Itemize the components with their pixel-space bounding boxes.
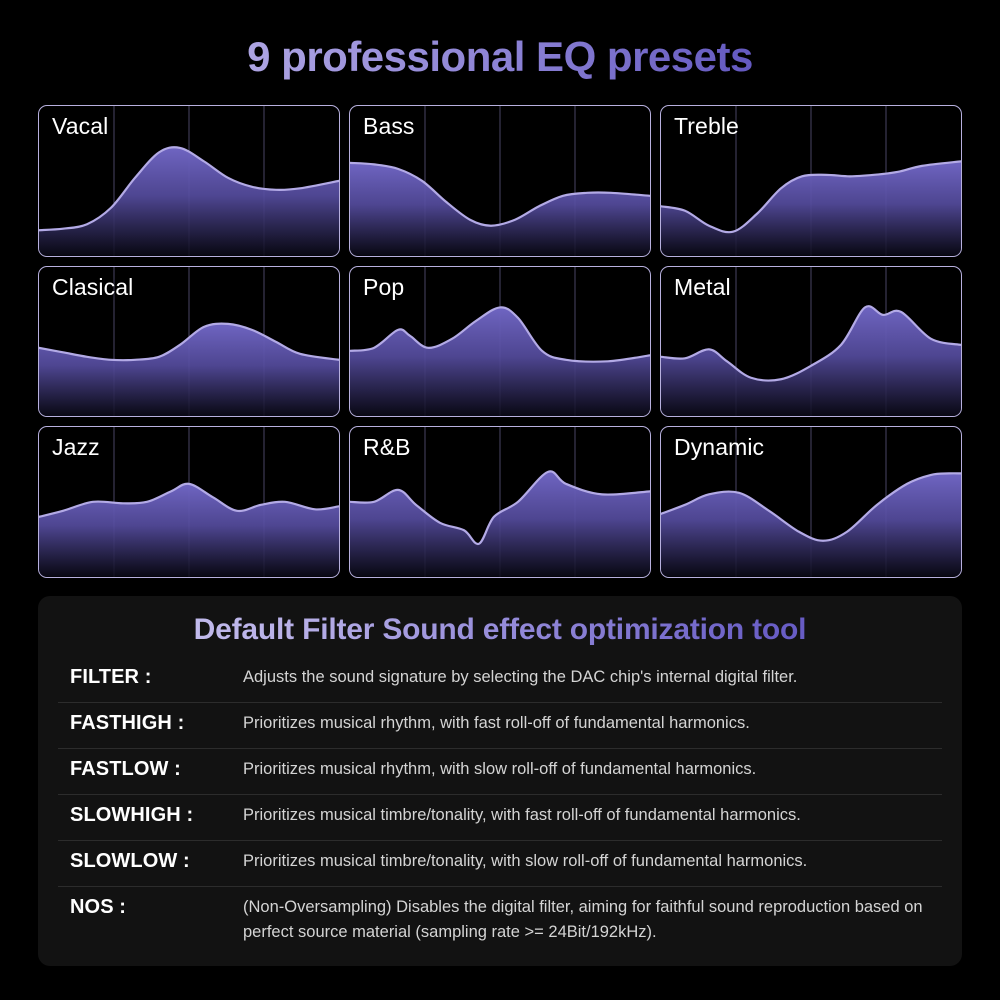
eq-preset-card[interactable]: Jazz xyxy=(38,426,340,578)
eq-presets-page: 9 professional EQ presets Vacal xyxy=(0,0,1000,1000)
filter-term: FILTER : xyxy=(58,663,243,692)
eq-preset-card[interactable]: Clasical xyxy=(38,266,340,418)
filter-row: NOS : (Non-Oversampling) Disables the di… xyxy=(58,887,942,952)
filter-description: Prioritizes musical rhythm, with slow ro… xyxy=(243,755,942,782)
eq-preset-label: Pop xyxy=(363,274,404,301)
filter-row: FASTHIGH : Prioritizes musical rhythm, w… xyxy=(58,703,942,749)
eq-preset-card[interactable]: Bass xyxy=(349,105,651,257)
filter-row: SLOWLOW : Prioritizes musical timbre/ton… xyxy=(58,841,942,887)
filter-term: FASTHIGH : xyxy=(58,709,243,738)
eq-preset-label: Jazz xyxy=(52,434,100,461)
eq-preset-card[interactable]: R&B xyxy=(349,426,651,578)
eq-preset-card[interactable]: Vacal xyxy=(38,105,340,257)
filter-panel-title: Default Filter Sound effect optimization… xyxy=(58,613,942,647)
filter-row: FILTER : Adjusts the sound signature by … xyxy=(58,657,942,703)
filter-description: Prioritizes musical timbre/tonality, wit… xyxy=(243,801,942,828)
eq-preset-grid: Vacal Bass xyxy=(38,105,962,578)
eq-preset-label: R&B xyxy=(363,434,411,461)
filter-description: Prioritizes musical rhythm, with fast ro… xyxy=(243,709,942,736)
filter-description: Adjusts the sound signature by selecting… xyxy=(243,663,942,690)
filter-term: SLOWHIGH : xyxy=(58,801,243,830)
eq-preset-label: Bass xyxy=(363,113,415,140)
eq-preset-card[interactable]: Pop xyxy=(349,266,651,418)
filter-row-list: FILTER : Adjusts the sound signature by … xyxy=(58,657,942,952)
filter-row: SLOWHIGH : Prioritizes musical timbre/to… xyxy=(58,795,942,841)
filter-description: Prioritizes musical timbre/tonality, wit… xyxy=(243,847,942,874)
eq-curve-fill xyxy=(39,484,339,577)
eq-preset-card[interactable]: Metal xyxy=(660,266,962,418)
eq-preset-card[interactable]: Dynamic xyxy=(660,426,962,578)
eq-curve-fill xyxy=(39,147,339,255)
filter-row: FASTLOW : Prioritizes musical rhythm, wi… xyxy=(58,749,942,795)
filter-term: SLOWLOW : xyxy=(58,847,243,876)
eq-preset-label: Clasical xyxy=(52,274,133,301)
eq-preset-card[interactable]: Treble xyxy=(660,105,962,257)
filter-info-panel: Default Filter Sound effect optimization… xyxy=(38,596,962,966)
filter-description: (Non-Oversampling) Disables the digital … xyxy=(243,893,942,945)
filter-term: NOS : xyxy=(58,893,243,922)
filter-term: FASTLOW : xyxy=(58,755,243,784)
eq-preset-label: Treble xyxy=(674,113,739,140)
page-title: 9 professional EQ presets xyxy=(0,0,1000,81)
eq-preset-label: Metal xyxy=(674,274,731,301)
eq-preset-label: Dynamic xyxy=(674,434,764,461)
eq-preset-label: Vacal xyxy=(52,113,108,140)
